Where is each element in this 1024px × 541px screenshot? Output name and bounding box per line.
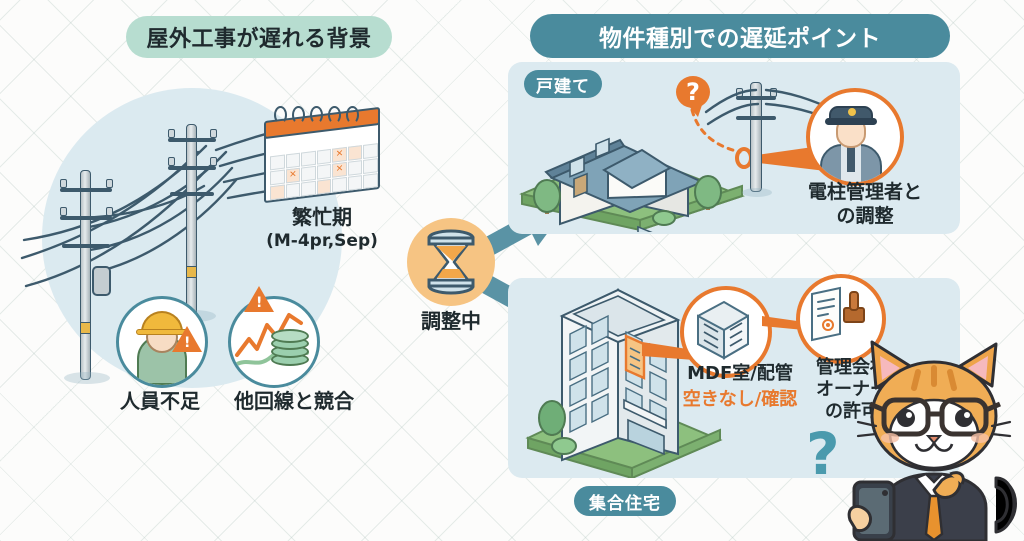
transformer-icon: [92, 266, 111, 296]
cat-mascot: [846, 330, 1024, 541]
pole-shadow: [64, 372, 110, 384]
tag-apartment: 集合住宅: [574, 486, 676, 516]
desk-calendar-icon: ✕ ✕ ✕: [258, 104, 386, 200]
pole-manager-avatar-icon: [806, 88, 904, 186]
pole-shadow: [742, 188, 772, 197]
adjusting-label: 調整中: [404, 310, 498, 333]
busy-season-title: 繁忙期: [250, 206, 394, 229]
warning-triangle-icon: [172, 326, 202, 352]
section-header-right: 物件種別での遅延ポイント: [530, 14, 950, 58]
pole-manager-caption-line1: 電柱管理者と: [790, 182, 940, 204]
mdf-caption-main: MDF室/配管: [672, 364, 808, 385]
hourglass-icon: [407, 218, 495, 306]
question-mark-icon: ?: [806, 420, 840, 488]
infographic-canvas: 屋外工事が遅れる背景 物件種別での遅延ポイント: [0, 0, 1024, 541]
competing-lines-icon: [228, 296, 320, 388]
mdf-caption-sub: 空きなし/確認: [672, 390, 808, 411]
warning-triangle-icon: [244, 286, 274, 312]
pole-manager-caption-line2: の調整: [790, 206, 940, 228]
busy-season-subtitle: (M-4pr,Sep): [244, 232, 400, 252]
competing-lines-label: 他回線と競合: [224, 390, 364, 413]
section-header-left: 屋外工事が遅れる背景: [126, 16, 392, 58]
tag-detached-house: 戸建て: [524, 70, 602, 98]
worker-shortage-label: 人員不足: [108, 390, 212, 413]
